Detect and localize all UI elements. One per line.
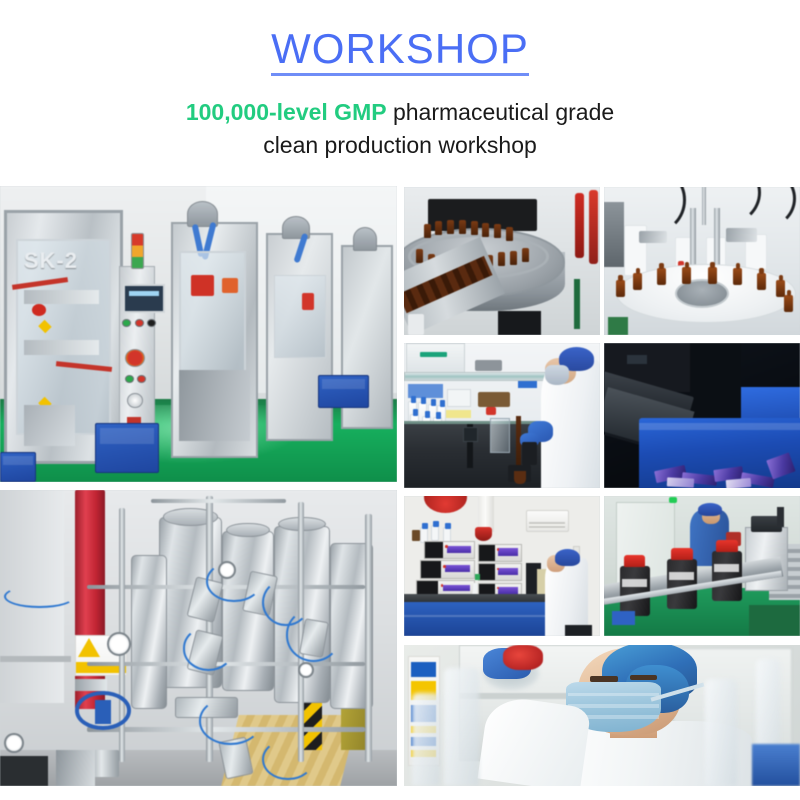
hplc-lab-scene xyxy=(404,496,600,636)
crate-scene xyxy=(604,343,800,488)
packaging-line-scene: SK-2 xyxy=(0,186,397,482)
page-title: WORKSHOP xyxy=(271,26,529,76)
filling-machine-scene xyxy=(604,187,800,335)
page-header: WORKSHOP 100,000-level GMP pharmaceutica… xyxy=(0,0,800,162)
sample-flask xyxy=(503,645,543,670)
workshop-page: WORKSHOP 100,000-level GMP pharmaceutica… xyxy=(0,0,800,800)
page-subtitle: 100,000-level GMP pharmaceutical grade c… xyxy=(0,96,800,161)
hmi-screen xyxy=(123,284,165,314)
subtitle-rest: pharmaceutical grade xyxy=(387,99,615,125)
photo-sachet-collection-crate[interactable] xyxy=(604,343,800,488)
photo-bottle-labeling-conveyor[interactable] xyxy=(604,496,800,636)
subtitle-highlight: 100,000-level GMP xyxy=(186,99,387,125)
subtitle-line2: clean production workshop xyxy=(263,132,537,158)
lab-bench-scene xyxy=(404,343,600,488)
photo-qc-technician-portrait[interactable] xyxy=(404,645,800,786)
rotary-table-scene xyxy=(404,187,600,335)
workshop-photo-grid: SK-2 xyxy=(0,186,800,800)
photo-bottle-rotary-table[interactable] xyxy=(404,187,600,335)
photo-hplc-analysis-lab[interactable] xyxy=(404,496,600,636)
photo-bottle-filling-capping[interactable] xyxy=(604,187,800,335)
photo-water-treatment-system[interactable] xyxy=(0,490,397,786)
machine-brand-label: SK-2 xyxy=(24,248,78,274)
labeling-conveyor-scene xyxy=(604,496,800,636)
photo-lab-technician-bench[interactable] xyxy=(404,343,600,488)
qc-portrait-scene xyxy=(404,645,800,786)
photo-packaging-line[interactable]: SK-2 xyxy=(0,186,397,482)
water-system-scene xyxy=(0,490,397,786)
